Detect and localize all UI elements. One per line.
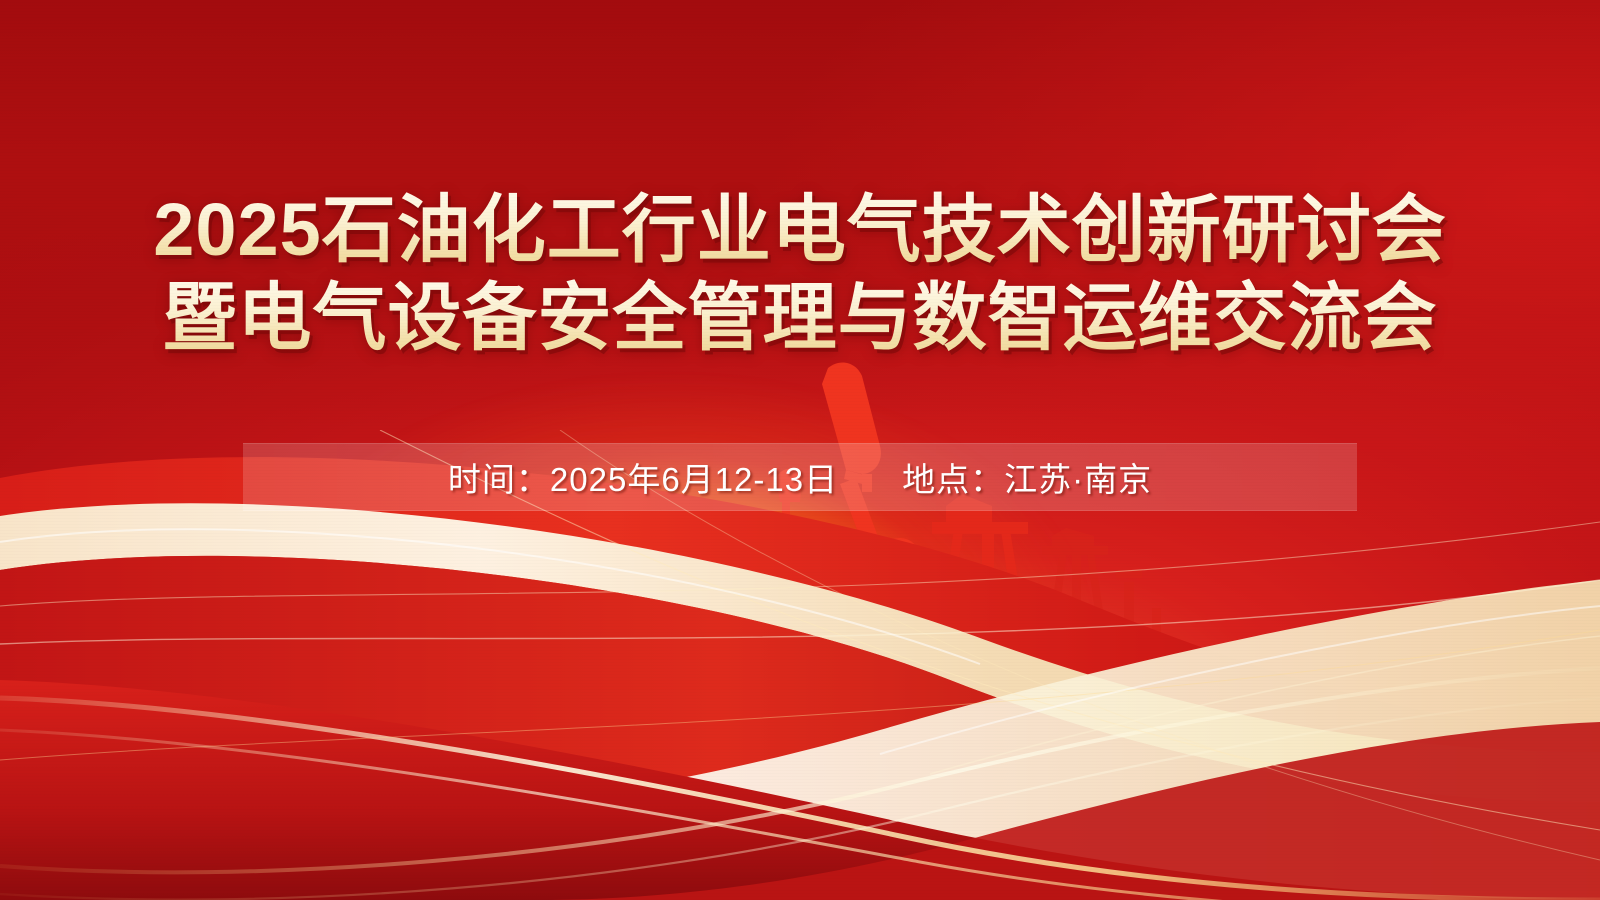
conference-banner: 2025石油化工行业电气技术创新研讨会 暨电气设备安全管理与数智运维交流会 时间… xyxy=(0,0,1600,900)
event-location: 地点：江苏·南京 xyxy=(902,453,1152,501)
event-time: 时间：2025年6月12-13日 xyxy=(448,453,838,501)
subtitle-bar: 时间：2025年6月12-13日 地点：江苏·南京 xyxy=(243,443,1357,511)
